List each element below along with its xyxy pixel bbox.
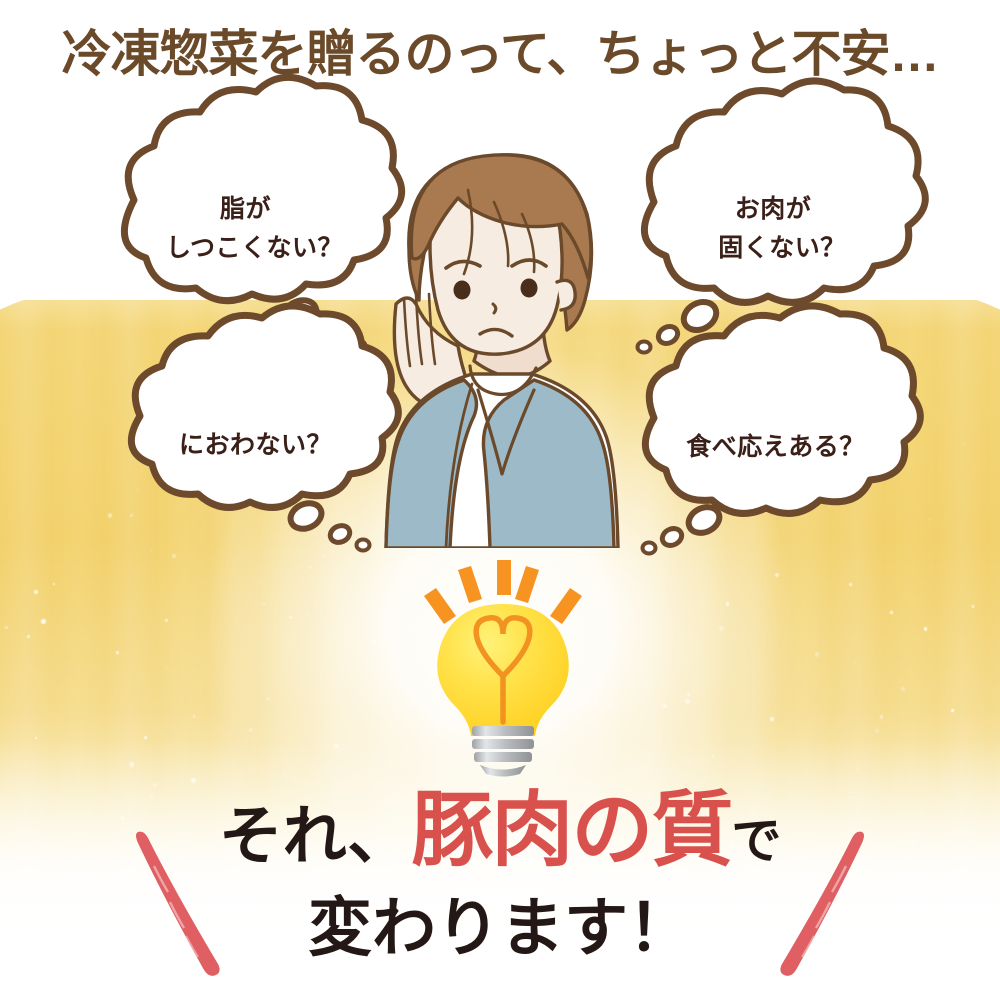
bubble-line-1: 食べ応えある？ bbox=[686, 433, 865, 461]
page-title: 冷凍惣菜を贈るのって、ちょっと不安… bbox=[0, 14, 1000, 86]
bubble-text-bottom-right: 食べ応えある？ bbox=[608, 428, 943, 467]
bubble-line-2: しつこくない？ bbox=[88, 229, 403, 268]
brush-stroke-left bbox=[130, 828, 230, 976]
promo-banner: 冷凍惣菜を贈るのって、ちょっと不安… bbox=[0, 0, 1000, 1000]
lightbulb-icon bbox=[398, 548, 608, 778]
bubble-line-1: におわない？ bbox=[179, 431, 332, 459]
bubble-text-top-right: お肉が 固くない？ bbox=[608, 190, 938, 268]
thought-bubble-bottom-right: 食べ応えある？ bbox=[608, 348, 943, 553]
bulb-base bbox=[472, 726, 534, 777]
bubble-line-2: 固くない？ bbox=[608, 229, 938, 268]
bubble-line-1: お肉が bbox=[735, 195, 812, 223]
bubble-text-top-left: 脂が しつこくない？ bbox=[88, 190, 403, 268]
brush-stroke-right bbox=[770, 828, 870, 976]
bubble-line-1: 脂が bbox=[220, 195, 271, 223]
bubble-text-bottom-left: におわない？ bbox=[98, 426, 413, 465]
thought-bubble-bottom-left: におわない？ bbox=[98, 348, 413, 548]
